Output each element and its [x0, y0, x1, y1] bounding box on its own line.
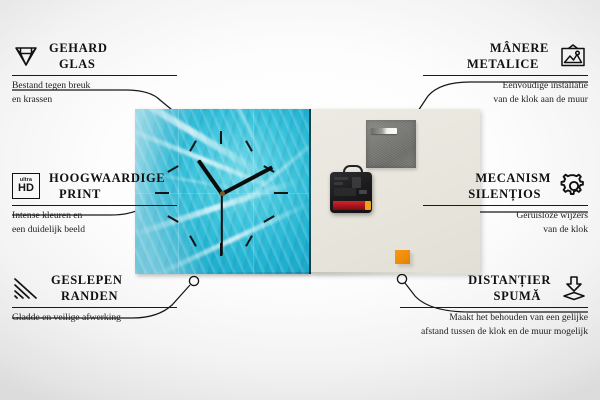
clock-mechanism-part	[330, 172, 372, 213]
battery-part	[333, 201, 369, 210]
feature-title-line1: HOOGWAARDIGE	[47, 170, 165, 186]
clock-tick	[189, 235, 197, 246]
feature-subtitle: Maakt het behouden van een gelijke afsta…	[400, 311, 588, 338]
feature-divider	[12, 307, 177, 308]
feature-title-line1: GESLEPEN	[49, 272, 123, 288]
feature-divider	[12, 75, 177, 76]
hanger-slot	[371, 128, 397, 134]
spacer-arrow-icon	[560, 274, 588, 302]
ultra-hd-icon: ultra HD	[12, 173, 40, 199]
feature-divider	[400, 307, 588, 308]
clock-hand-hub	[220, 191, 225, 196]
clock-tick	[245, 235, 253, 246]
foam-spacer-part	[395, 250, 410, 264]
beveled-edge-icon	[12, 275, 42, 301]
clock-tick	[274, 192, 288, 194]
feature-title-line2: METALICE	[423, 56, 551, 72]
feature-subtitle: Geruisloze wijzers van de klok	[423, 209, 588, 236]
feature-foam-spacer[interactable]: DISTANȚIER SPUMĂ Maakt het behouden van …	[400, 272, 588, 338]
ultra-hd-icon-large-text: HD	[18, 183, 34, 194]
feature-ground-edges[interactable]: GESLEPEN RANDEN Gladde en veilige afwerk…	[12, 272, 177, 325]
feature-subtitle: Intense kleuren en een duidelijk beeld	[12, 209, 177, 236]
feature-divider	[423, 205, 588, 206]
feature-divider	[423, 75, 588, 76]
feature-silent-mechanism[interactable]: MECANISM SILENȚIOS Geruisloze wijzers va…	[423, 170, 588, 236]
feature-metal-handles[interactable]: MÂNERE METALICE Eenvoudige installatie v…	[423, 40, 588, 106]
feature-title-line1: MECANISM	[423, 170, 553, 186]
feature-title-line2: GLAS	[47, 56, 107, 72]
battery-positive-terminal	[365, 201, 371, 210]
clock-tick	[245, 140, 253, 151]
feature-subtitle: Gladde en veilige afwerking	[12, 311, 177, 325]
clock-tick	[189, 140, 197, 151]
feature-title-line2: SPUMĂ	[400, 288, 553, 304]
feature-title-line2: SILENȚIOS	[423, 186, 553, 202]
feature-subtitle: Eenvoudige installatie van de klok aan d…	[423, 79, 588, 106]
feature-title-line2: PRINT	[47, 186, 165, 202]
feature-title-line1: DISTANȚIER	[400, 272, 553, 288]
clock-tick	[220, 131, 222, 144]
gear-icon	[560, 172, 588, 200]
feature-title-line1: GEHARD	[47, 40, 107, 56]
feature-high-quality-print[interactable]: ultra HD HOOGWAARDIGE PRINT Intense kleu…	[12, 170, 177, 236]
feature-divider	[12, 205, 177, 206]
feature-title-line2: RANDEN	[49, 288, 123, 304]
picture-frame-hook-icon	[558, 43, 588, 70]
feature-subtitle: Bestand tegen breuk en krassen	[12, 79, 177, 106]
feature-tempered-glass[interactable]: GEHARD GLAS Bestand tegen breuk en krass…	[12, 40, 177, 106]
diamond-icon	[12, 43, 40, 69]
feature-title-line1: MÂNERE	[423, 40, 551, 56]
infographic-canvas: GEHARD GLAS Bestand tegen breuk en krass…	[0, 0, 600, 400]
clock-second-hand	[221, 194, 223, 256]
